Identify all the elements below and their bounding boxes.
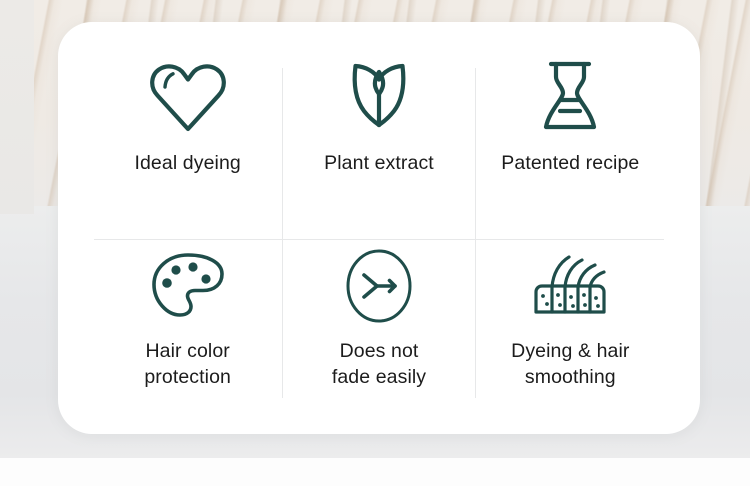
flask-icon (537, 50, 603, 146)
feature-item-ideal-dyeing: Ideal dyeing (92, 50, 283, 228)
feature-item-patented-recipe: Patented recipe (475, 50, 666, 228)
feature-label: Plant extract (324, 150, 434, 176)
feature-card: Ideal dyeing Plant extract (58, 22, 700, 434)
feature-label: Patented recipe (501, 150, 639, 176)
feature-grid: Ideal dyeing Plant extract (92, 50, 666, 406)
feature-item-dyeing-and-hair-smoothing: Dyeing & hair smoothing (475, 228, 666, 406)
feature-label: Ideal dyeing (134, 150, 240, 176)
feature-item-plant-extract: Plant extract (283, 50, 474, 228)
feature-item-hair-color-protection: Hair color protection (92, 228, 283, 406)
heart-icon (147, 50, 229, 146)
feature-label: Hair color protection (144, 338, 231, 390)
background-bottom-strip (0, 458, 750, 486)
feature-label: Does not fade easily (332, 338, 426, 390)
feature-grid-banner: Ideal dyeing Plant extract (0, 0, 750, 486)
feature-label: Dyeing & hair smoothing (511, 338, 629, 390)
scalp-hair-icon (528, 240, 612, 332)
merge-arrow-circle-icon (344, 240, 414, 332)
paint-palette-icon (150, 240, 226, 332)
tulip-flower-icon (342, 50, 416, 146)
background-left-edge (0, 0, 34, 214)
feature-item-does-not-fade-easily: Does not fade easily (283, 228, 474, 406)
